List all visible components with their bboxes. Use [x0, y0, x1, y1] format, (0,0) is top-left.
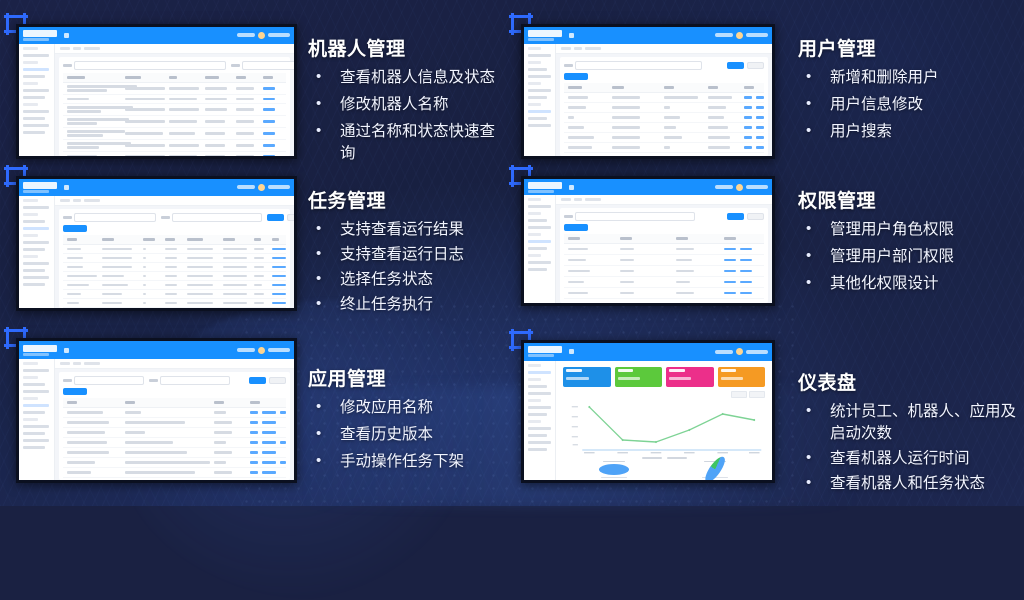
- table-body: [63, 83, 286, 159]
- search-input[interactable]: [74, 213, 156, 222]
- section-title: 机器人管理: [308, 34, 508, 61]
- line-chart: [563, 400, 765, 456]
- table-row[interactable]: [564, 255, 764, 266]
- section-app-management: 应用管理 修改应用名称 查看历史版本 手动操作任务下架: [308, 364, 508, 478]
- table-row[interactable]: [63, 83, 286, 95]
- series-points: [589, 406, 756, 443]
- screenshot-robot-management[interactable]: [16, 24, 297, 159]
- avatar[interactable]: [736, 348, 743, 355]
- bullet-item: 统计员工、机器人、应用及启动次数: [798, 401, 1016, 445]
- menu-toggle-icon[interactable]: [64, 185, 69, 190]
- sidebar[interactable]: [524, 195, 556, 303]
- avatar[interactable]: [258, 32, 265, 39]
- pie-chart-row: [563, 459, 765, 478]
- table-row[interactable]: [63, 116, 286, 128]
- pie-chart-robot-status[interactable]: [563, 459, 664, 478]
- section-bullets: 管理用户角色权限 管理用户部门权限 其他化权限设计: [798, 219, 1008, 295]
- section-title: 仪表盘: [798, 368, 1016, 395]
- section-task-management: 任务管理 支持查看运行结果 支持查看运行日志 选择任务状态 终止任务执行: [308, 186, 508, 319]
- app-header: [19, 179, 294, 196]
- table-row[interactable]: [63, 254, 286, 263]
- table-row[interactable]: [63, 408, 286, 418]
- table-row[interactable]: [63, 95, 286, 104]
- screenshot-permission-management[interactable]: [521, 176, 775, 306]
- content-panel: [560, 208, 768, 303]
- search-button[interactable]: [249, 377, 266, 384]
- search-input[interactable]: [74, 61, 226, 70]
- kpi-card-apps[interactable]: [666, 367, 713, 387]
- header-link[interactable]: [237, 33, 255, 37]
- pie-title: [603, 461, 625, 462]
- search-input[interactable]: [575, 212, 695, 221]
- app-window[interactable]: [521, 340, 775, 483]
- table-row[interactable]: [63, 152, 286, 159]
- app-window[interactable]: [16, 338, 297, 483]
- breadcrumb: [55, 359, 294, 369]
- search-button[interactable]: [727, 62, 744, 69]
- table-body: [63, 408, 286, 483]
- bullet-item: 修改应用名称: [308, 397, 508, 419]
- bullet-item: 通过名称和状态快速查询: [308, 121, 508, 165]
- table-row[interactable]: [564, 153, 764, 159]
- section-bullets: 修改应用名称 查看历史版本 手动操作任务下架: [308, 397, 508, 473]
- table-row[interactable]: [63, 438, 286, 448]
- bullet-item: 用户搜索: [798, 121, 1008, 143]
- table-row[interactable]: [63, 458, 286, 468]
- table-row[interactable]: [63, 290, 286, 299]
- app-logo[interactable]: [23, 182, 69, 193]
- bullet-item: 终止任务执行: [308, 294, 508, 316]
- app-header: [19, 341, 294, 359]
- reset-button[interactable]: [287, 214, 297, 221]
- table-header: [564, 83, 764, 93]
- app-logo[interactable]: [528, 346, 574, 357]
- table-row[interactable]: [63, 428, 286, 438]
- kpi-card-launches[interactable]: [718, 367, 765, 387]
- app-header: [524, 27, 772, 44]
- content-panel: [560, 57, 768, 156]
- table-header: [564, 234, 764, 244]
- bullet-item: 查看历史版本: [308, 424, 508, 446]
- filter-bar[interactable]: [63, 213, 286, 222]
- table-row[interactable]: [63, 245, 286, 254]
- status-select[interactable]: [242, 61, 297, 70]
- header-link[interactable]: [715, 33, 733, 37]
- username-label: [268, 33, 290, 37]
- table-header: [63, 73, 286, 83]
- kpi-card-row: [563, 367, 765, 387]
- table-row[interactable]: [63, 272, 286, 281]
- table-header: [63, 235, 286, 245]
- search-input[interactable]: [575, 61, 702, 70]
- add-user-button[interactable]: [564, 73, 588, 80]
- table-row[interactable]: [564, 299, 764, 306]
- table-row[interactable]: [63, 478, 286, 483]
- table-row[interactable]: [564, 143, 764, 153]
- header-link[interactable]: [237, 185, 255, 189]
- header-link[interactable]: [237, 348, 255, 352]
- screenshot-app-management[interactable]: [16, 338, 297, 483]
- app-logo[interactable]: [528, 30, 574, 41]
- kpi-card-employees[interactable]: [563, 367, 610, 387]
- table-row[interactable]: [564, 244, 764, 255]
- new-app-button[interactable]: [63, 388, 87, 395]
- app-header: [524, 179, 772, 195]
- pie-chart-task-status[interactable]: [664, 459, 765, 478]
- screenshot-task-management[interactable]: [16, 176, 297, 311]
- section-permission-management: 权限管理 管理用户角色权限 管理用户部门权限 其他化权限设计: [798, 186, 1008, 300]
- avatar[interactable]: [736, 32, 743, 39]
- menu-toggle-icon[interactable]: [64, 33, 69, 38]
- search-button[interactable]: [727, 213, 744, 220]
- reset-button[interactable]: [747, 213, 764, 220]
- username-label: [746, 350, 768, 354]
- bullet-item: 查看机器人和任务状态: [798, 473, 1016, 495]
- menu-toggle-icon[interactable]: [569, 349, 574, 354]
- table-row[interactable]: [63, 418, 286, 428]
- table-row[interactable]: [564, 123, 764, 133]
- table-row[interactable]: [564, 103, 764, 113]
- screenshot-dashboard[interactable]: [521, 340, 775, 483]
- bullet-item: 选择任务状态: [308, 269, 508, 291]
- table-row[interactable]: [564, 288, 764, 299]
- table-row[interactable]: [564, 113, 764, 123]
- app-logo[interactable]: [23, 30, 69, 41]
- table-row[interactable]: [63, 308, 286, 311]
- avatar[interactable]: [736, 184, 743, 191]
- avatar[interactable]: [258, 347, 265, 354]
- filter-bar[interactable]: [564, 212, 764, 221]
- bullet-item: 查看机器人信息及状态: [308, 67, 508, 89]
- y-axis-ticks: [572, 406, 578, 445]
- table-row[interactable]: [63, 299, 286, 308]
- section-bullets: 新增和删除用户 用户信息修改 用户搜索: [798, 67, 1008, 143]
- avatar[interactable]: [258, 184, 265, 191]
- bullet-item: 修改机器人名称: [308, 94, 508, 116]
- header-link[interactable]: [715, 350, 733, 354]
- app-window[interactable]: [16, 176, 297, 311]
- app-header: [19, 27, 294, 44]
- table-row[interactable]: [63, 140, 286, 152]
- table-row[interactable]: [63, 128, 286, 140]
- sidebar[interactable]: [19, 359, 55, 480]
- series-line: [590, 407, 755, 442]
- table-row[interactable]: [564, 277, 764, 288]
- content-panel: [59, 209, 290, 308]
- filter-bar[interactable]: [63, 376, 286, 385]
- table-row[interactable]: [63, 104, 286, 116]
- app-window[interactable]: [16, 24, 297, 159]
- chart-range-toggle[interactable]: [563, 391, 765, 398]
- username-label: [268, 348, 290, 352]
- section-bullets: 查看机器人信息及状态 修改机器人名称 通过名称和状态快速查询: [308, 67, 508, 165]
- app-header: [524, 343, 772, 361]
- sidebar[interactable]: [524, 44, 556, 156]
- sidebar[interactable]: [19, 44, 55, 156]
- bullet-item: 手动操作任务下架: [308, 451, 508, 473]
- sidebar[interactable]: [19, 196, 55, 308]
- username-label: [268, 185, 290, 189]
- table-body: [564, 93, 764, 159]
- bullet-item: 支持查看运行日志: [308, 244, 508, 266]
- filter-bar[interactable]: [63, 61, 286, 70]
- menu-toggle-icon[interactable]: [64, 348, 69, 353]
- section-robot-management: 机器人管理 查看机器人信息及状态 修改机器人名称 通过名称和状态快速查询: [308, 34, 508, 170]
- table-body: [63, 245, 286, 311]
- menu-toggle-icon[interactable]: [569, 185, 574, 190]
- content-panel: [59, 372, 290, 480]
- slide-stage: 机器人管理 查看机器人信息及状态 修改机器人名称 通过名称和状态快速查询: [0, 0, 1024, 506]
- filter-bar[interactable]: [564, 61, 764, 70]
- table-header: [63, 398, 286, 408]
- username-label: [746, 185, 768, 189]
- breadcrumb: [55, 44, 294, 54]
- bullet-item: 管理用户部门权限: [798, 246, 1008, 268]
- bullet-item: 其他化权限设计: [798, 273, 1008, 295]
- screenshot-user-management[interactable]: [521, 24, 775, 159]
- pie-graphic: [599, 464, 629, 475]
- table-row[interactable]: [63, 263, 286, 272]
- bullet-item: 支持查看运行结果: [308, 219, 508, 241]
- app-window[interactable]: [521, 176, 775, 306]
- table-row[interactable]: [564, 93, 764, 103]
- status-select[interactable]: [172, 213, 262, 222]
- section-title: 任务管理: [308, 186, 508, 213]
- app-logo[interactable]: [528, 182, 574, 193]
- header-link[interactable]: [715, 185, 733, 189]
- reset-button[interactable]: [747, 62, 764, 69]
- pie-graphic: [702, 454, 728, 483]
- menu-toggle-icon[interactable]: [569, 33, 574, 38]
- table-row[interactable]: [63, 281, 286, 290]
- table-row[interactable]: [564, 133, 764, 143]
- section-dashboard: 仪表盘 统计员工、机器人、应用及启动次数 查看机器人运行时间 查看机器人和任务状…: [798, 368, 1016, 498]
- section-user-management: 用户管理 新增和删除用户 用户信息修改 用户搜索: [798, 34, 1008, 148]
- new-task-button[interactable]: [63, 225, 87, 232]
- bullet-item: 用户信息修改: [798, 94, 1008, 116]
- username-label: [746, 33, 768, 37]
- line-chart-svg: [563, 400, 765, 456]
- sidebar[interactable]: [524, 361, 556, 480]
- dashboard-panel: [561, 365, 767, 480]
- section-title: 权限管理: [798, 186, 1008, 213]
- content-panel: [59, 57, 290, 156]
- version-select[interactable]: [160, 376, 230, 385]
- section-bullets: 统计员工、机器人、应用及启动次数 查看机器人运行时间 查看机器人和任务状态: [798, 401, 1016, 495]
- x-axis-ticks: [584, 452, 759, 453]
- table-row[interactable]: [63, 448, 286, 458]
- breadcrumb: [556, 44, 772, 54]
- search-input[interactable]: [74, 376, 144, 385]
- section-bullets: 支持查看运行结果 支持查看运行日志 选择任务状态 终止任务执行: [308, 219, 508, 316]
- kpi-card-robots[interactable]: [615, 367, 662, 387]
- bullet-item: 管理用户角色权限: [798, 219, 1008, 241]
- bullet-item: 新增和删除用户: [798, 67, 1008, 89]
- app-window[interactable]: [521, 24, 775, 159]
- app-logo[interactable]: [23, 345, 69, 356]
- reset-button[interactable]: [269, 377, 286, 384]
- table-body: [564, 244, 764, 306]
- breadcrumb: [55, 196, 294, 206]
- section-title: 应用管理: [308, 364, 508, 391]
- search-button[interactable]: [267, 214, 284, 221]
- add-role-button[interactable]: [564, 224, 588, 231]
- table-row[interactable]: [564, 266, 764, 277]
- bullet-item: 查看机器人运行时间: [798, 448, 1016, 470]
- pie-label: [601, 477, 627, 478]
- section-title: 用户管理: [798, 34, 1008, 61]
- table-row[interactable]: [63, 468, 286, 478]
- breadcrumb: [556, 195, 772, 205]
